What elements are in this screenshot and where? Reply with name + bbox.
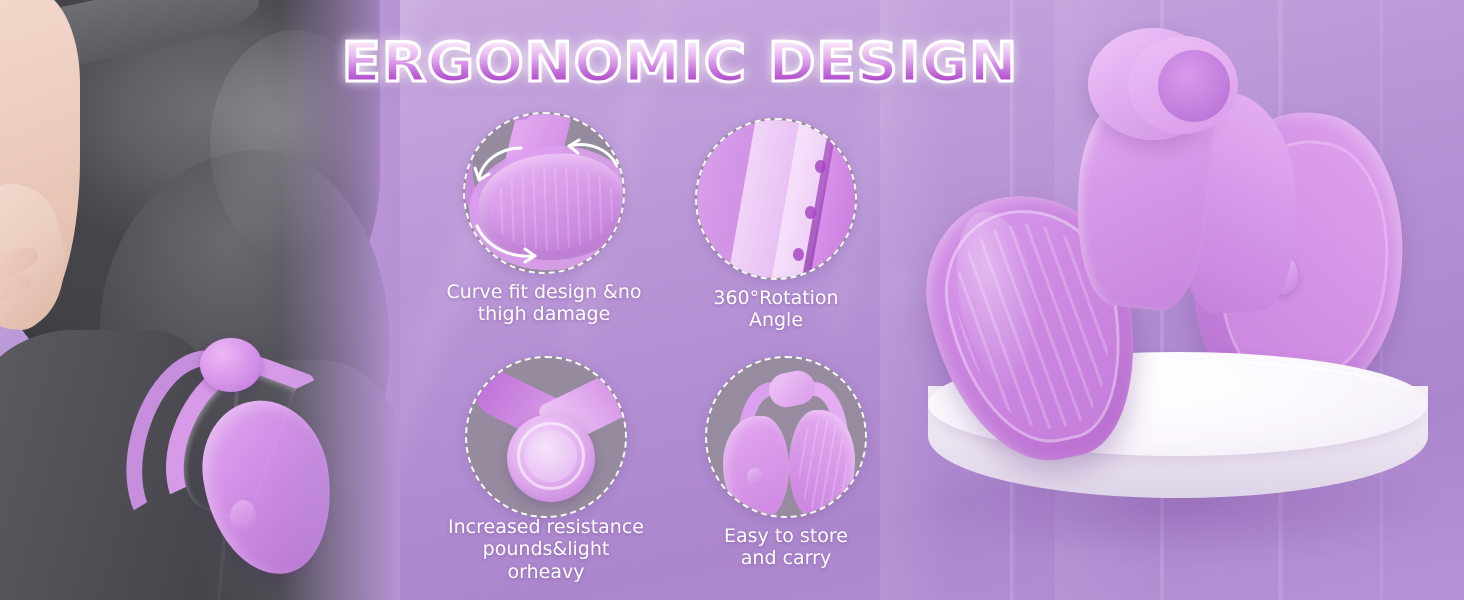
caption-line: 360°Rotation — [662, 287, 890, 309]
hero-product — [900, 0, 1464, 600]
caption-line: Angle — [662, 309, 890, 331]
feature-image-curve-fit — [463, 112, 625, 274]
feature-caption: Increased resistance pounds&light orheav… — [432, 516, 660, 583]
caption-line: and carry — [672, 547, 900, 569]
feature-image-resistance — [465, 356, 627, 518]
caption-line: Curve fit design &no — [430, 281, 658, 303]
hinge-detail — [805, 206, 816, 219]
joint-center — [525, 430, 577, 482]
caption-line: orheavy — [432, 561, 660, 583]
feature-rotation: 360°Rotation Angle — [662, 118, 890, 332]
hinge-detail — [815, 160, 826, 173]
caption-line: Easy to store — [672, 525, 900, 547]
folded-nub — [747, 468, 763, 486]
feature-resistance: Increased resistance pounds&light orheav… — [432, 356, 660, 583]
feature-storage: Easy to store and carry — [672, 356, 900, 570]
hero-hub-core — [1158, 50, 1230, 122]
folded-pad-ridges — [799, 420, 847, 512]
feature-caption: 360°Rotation Angle — [662, 287, 890, 332]
caption-line: pounds&light — [432, 538, 660, 560]
feature-image-rotation — [695, 118, 857, 280]
caption-line: Increased resistance — [432, 516, 660, 538]
feature-grid: Curve fit design &no thigh damage — [430, 112, 890, 592]
feature-caption: Curve fit design &no thigh damage — [430, 281, 658, 326]
model-photo — [0, 0, 400, 600]
device-hub — [200, 338, 262, 392]
feature-curve-fit: Curve fit design &no thigh damage — [430, 112, 658, 326]
feature-caption: Easy to store and carry — [672, 525, 900, 570]
product-feature-banner: ERGONOMIC DESIGN — [0, 0, 1464, 600]
hinge-detail — [793, 248, 804, 261]
feature-image-storage — [705, 356, 867, 518]
caption-line: thigh damage — [430, 303, 658, 325]
folded-pad-left — [723, 416, 789, 516]
